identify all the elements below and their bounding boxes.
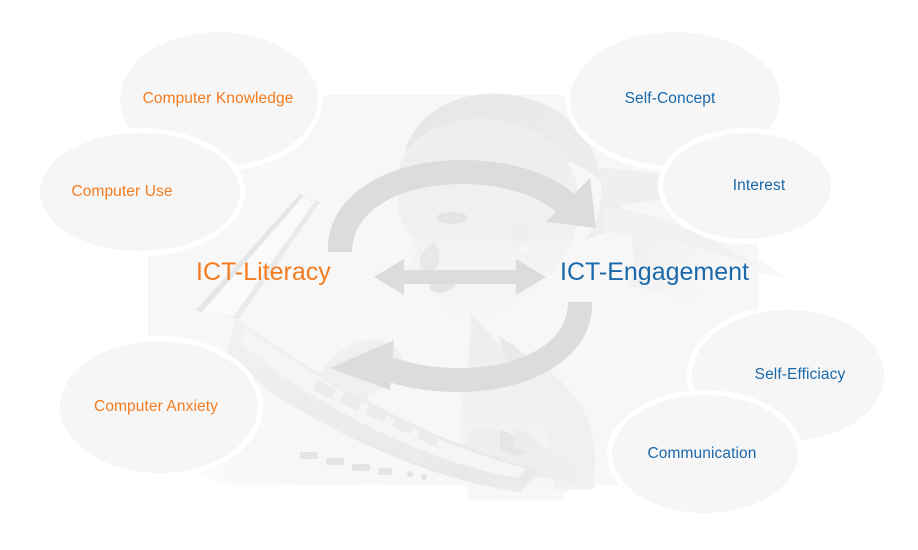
node-computer-anxiety[interactable]: Computer Anxiety (60, 341, 258, 473)
node-label: Self-Concept (570, 90, 780, 109)
node-label: Computer Use (40, 183, 240, 202)
node-label: Interest (663, 177, 831, 196)
node-label: Computer Anxiety (60, 398, 258, 417)
node-interest[interactable]: Interest (663, 133, 831, 239)
core-label-ict-literacy: ICT-Literacy (196, 258, 331, 287)
node-label: Communication (612, 445, 798, 464)
node-communication[interactable]: Communication (612, 395, 798, 513)
ict-literacy-engagement-diagram: Computer Knowledge Computer Use Computer… (0, 0, 918, 550)
node-computer-use[interactable]: Computer Use (40, 133, 240, 251)
node-label: Self-Efficiacy (692, 366, 884, 385)
core-label-ict-engagement: ICT-Engagement (560, 258, 749, 287)
node-label: Computer Knowledge (120, 90, 318, 109)
